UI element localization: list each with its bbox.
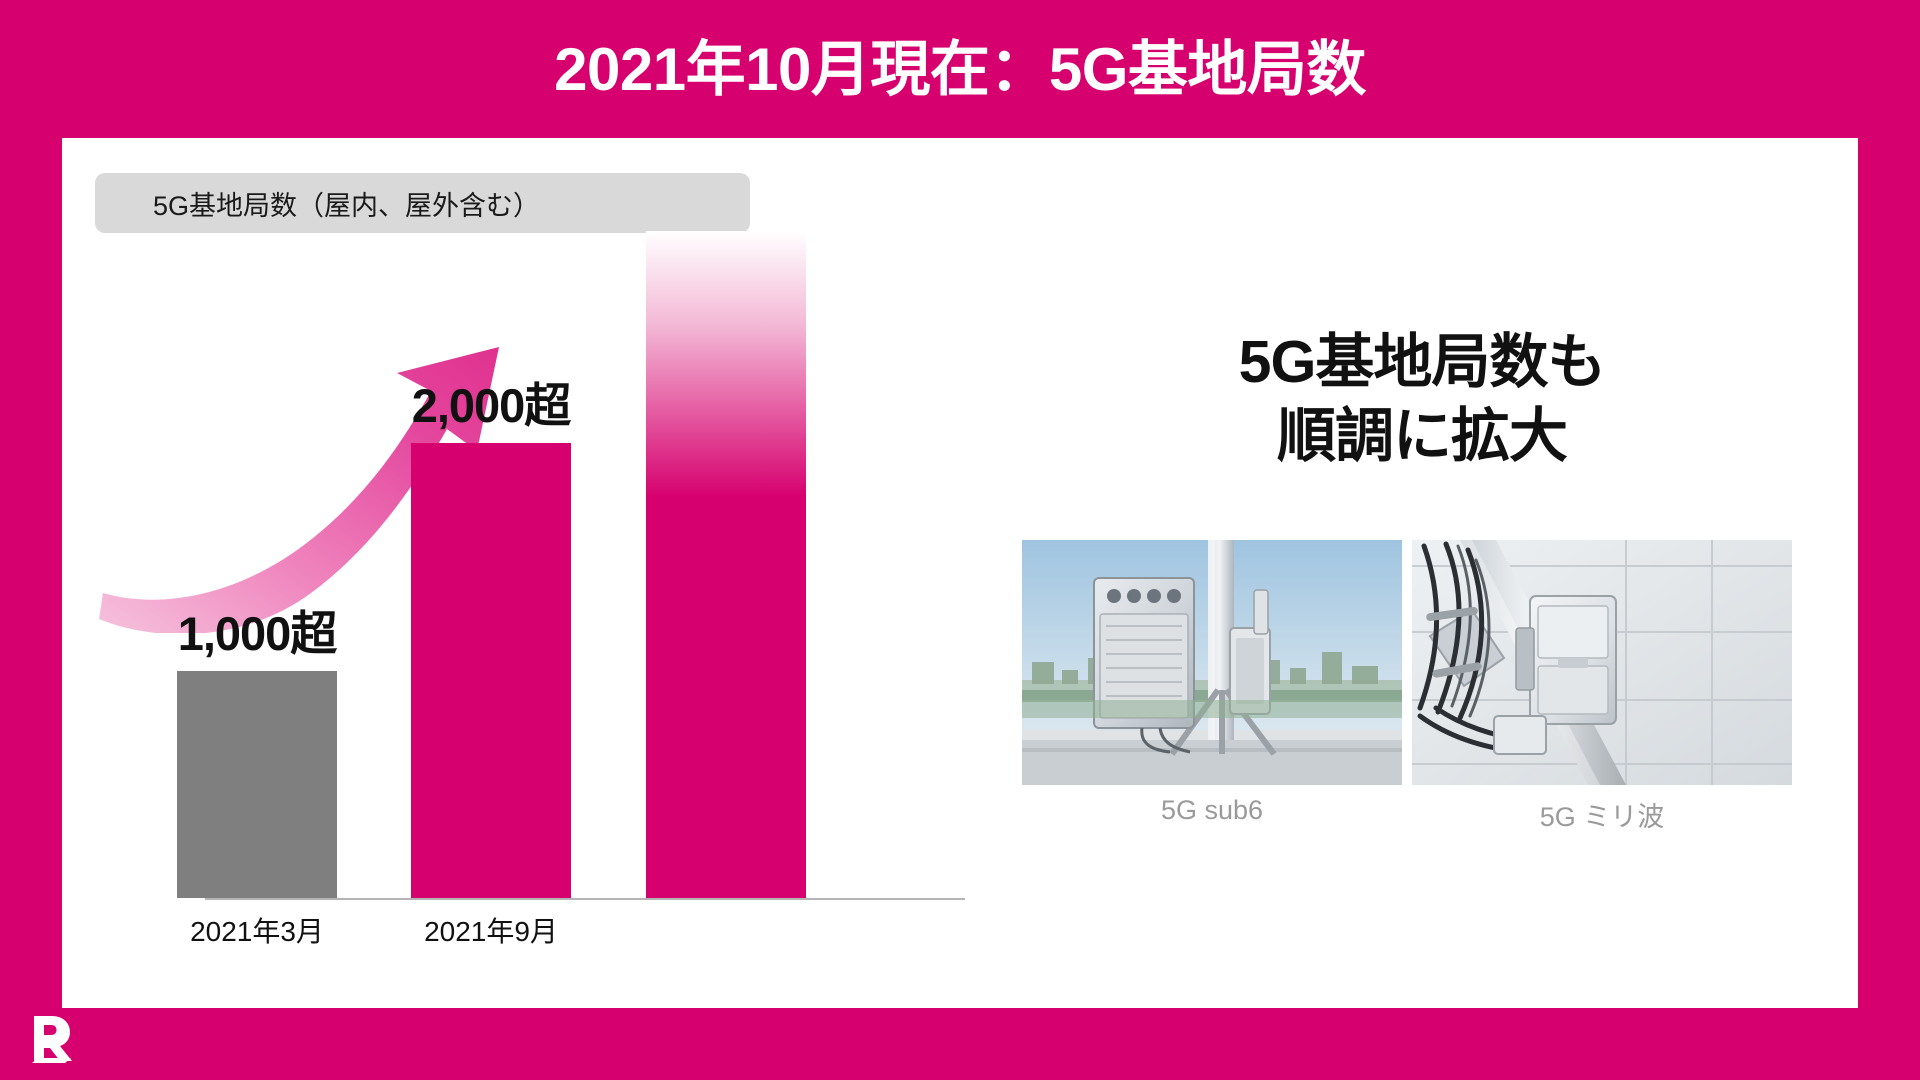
bar-2021-09 [411,443,571,898]
rakuten-logo [22,1010,82,1068]
headline-line-1: 5G基地局数も [1022,326,1822,400]
bar-value-label-2021-09: 2,000超 [403,367,579,436]
title-bar: 2021年10月現在：5G基地局数 [0,0,1920,140]
5g-millimeter-wave-antenna-photo [1412,540,1792,785]
x-axis-tick-2021-03: 2021年3月 [167,910,347,950]
bar-2021-03 [177,671,337,898]
photo-caption-sub6: 5G sub6 [1022,795,1402,826]
mmwave-photo-illustration [1412,540,1792,785]
x-axis-tick-2021-09: 2021年9月 [401,910,581,950]
headline-line-2: 順調に拡大 [1022,400,1822,474]
right-column: 5G基地局数も 順調に拡大 [1022,278,1822,1008]
chart-axis-line [205,898,965,900]
bar-value-label-2021-03: 1,000超 [169,595,345,664]
content-card: 5G基地局数（屋内、屋外含む） 1, [62,138,1858,1008]
slide-root: 2021年10月現在：5G基地局数 5G基地局数（屋内、屋外含む） [0,0,1920,1080]
chart-legend-chip: 5G基地局数（屋内、屋外含む） [95,173,750,233]
photo-caption-mmwave: 5G ミリ波 [1412,795,1792,834]
5g-sub6-antenna-photo [1022,540,1402,785]
bar-projected [646,231,806,898]
photo-row: 5G sub6 [1022,540,1792,834]
bar-chart: 1,000超 2,000超 2021年3月 2021年9月 [95,248,1000,1008]
sub6-photo-illustration [1022,540,1402,785]
chart-legend-label: 5G基地局数（屋内、屋外含む） [153,184,540,223]
page-title: 2021年10月現在：5G基地局数 [554,40,1366,100]
headline: 5G基地局数も 順調に拡大 [1022,326,1822,474]
photo-cell-mmwave: 5G ミリ波 [1412,540,1792,834]
photo-cell-sub6: 5G sub6 [1022,540,1402,834]
